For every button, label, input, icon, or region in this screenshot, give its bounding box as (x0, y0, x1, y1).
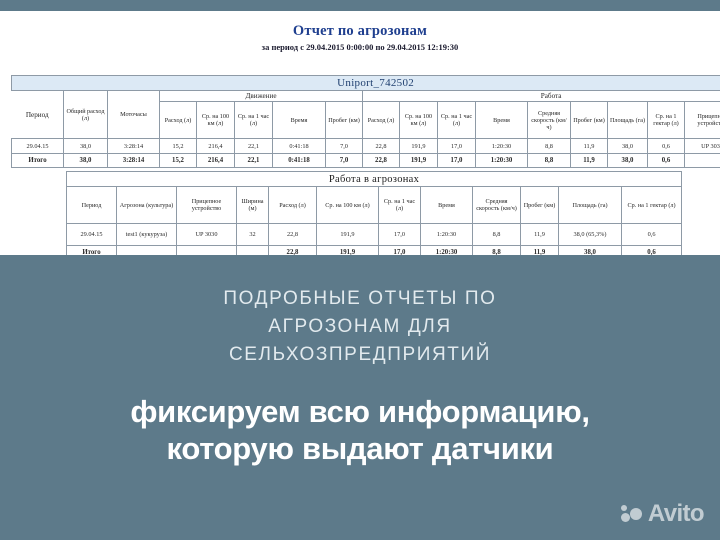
promo-kicker-line1: ПОДРОБНЫЕ ОТЧЕТЫ ПО (223, 288, 496, 309)
cell: 191,9 (400, 154, 438, 168)
promo-panel: ПОДРОБНЫЕ ОТЧЕТЫ ПО АГРОЗОНАМ ДЛЯ СЕЛЬХО… (0, 255, 720, 540)
cell: 216,4 (197, 154, 235, 168)
cell: 17,0 (379, 224, 421, 246)
promo-headline: фиксируем всю информацию, которую выдают… (40, 393, 680, 467)
table1-col-work-fuel: Расход (л) (363, 102, 400, 139)
cell: 32 (237, 224, 269, 246)
avito-logo-icon (621, 504, 643, 524)
cell: Итого (12, 154, 64, 168)
report-area: Отчет по агрозонам за период с 29.04.201… (0, 11, 720, 255)
table1-col-mov-distance: Пробег (км) (326, 102, 363, 139)
cell: 0,6 (648, 154, 685, 168)
table1-col-work-perhectare: Ср. на 1 гектар (л) (648, 102, 685, 139)
table1-col-implement: Прицепное устройство (685, 102, 720, 139)
table1-col-mov-fuel: Расход (л) (160, 102, 197, 139)
cell: 0,6 (622, 224, 682, 246)
table1-col-work-per100: Ср. на 100 км (л) (400, 102, 438, 139)
cell: 191,9 (400, 139, 438, 154)
promo-kicker-line3: СЕЛЬХОЗПРЕДПРИЯТИЙ (229, 344, 491, 365)
table2-col-time: Время (421, 187, 473, 224)
avito-watermark: Avito (621, 502, 704, 526)
table1-col-work-distance: Пробег (км) (571, 102, 608, 139)
cell: 38,0 (65,3%) (559, 224, 622, 246)
table1-group-row: Период Общий расход (л) Моточасы Движени… (12, 91, 720, 102)
cell (685, 154, 720, 168)
cell: 0:41:18 (273, 139, 326, 154)
promo-kicker-line2: АГРОЗОНАМ ДЛЯ (268, 316, 451, 337)
cell: 1:20:30 (421, 224, 473, 246)
table2-col-perhectare: Ср. на 1 гектар (л) (622, 187, 682, 224)
cell: 22,8 (269, 224, 317, 246)
promo-headline-line2: которую выдают датчики (40, 430, 680, 467)
cell: 17,0 (438, 154, 476, 168)
table1-band-row: Uniport_742502 (12, 76, 720, 91)
promo-kicker: ПОДРОБНЫЕ ОТЧЕТЫ ПО АГРОЗОНАМ ДЛЯ СЕЛЬХО… (60, 285, 660, 369)
table2-band-title: Работа в агрозонах (67, 172, 682, 187)
cell: 15,2 (160, 154, 197, 168)
table2-col-distance: Пробег (км) (521, 187, 559, 224)
cell: 7,0 (326, 139, 363, 154)
cell: 0,6 (648, 139, 685, 154)
cell: 15,2 (160, 139, 197, 154)
table-row: 29.04.15 38,0 3:28:14 15,2 216,4 22,1 0:… (12, 139, 720, 154)
cell: 11,9 (571, 154, 608, 168)
cell: 38,0 (608, 139, 648, 154)
table1-col-work-area: Площадь (га) (608, 102, 648, 139)
vehicle-summary-table: Uniport_742502 Период Общий расход (л) М… (11, 75, 720, 168)
promo-headline-line1: фиксируем всю информацию, (40, 393, 680, 430)
table2-col-width: Ширина (м) (237, 187, 269, 224)
table2-col-area: Площадь (га) (559, 187, 622, 224)
cell: 216,4 (197, 139, 235, 154)
cell: 1:20:30 (476, 154, 528, 168)
cell: test1 (кукуруза) (117, 224, 177, 246)
cell: 191,9 (317, 224, 379, 246)
cell: 22,1 (235, 139, 273, 154)
table1-col-mov-per100: Ср. на 100 км (л) (197, 102, 235, 139)
cell: 22,8 (363, 139, 400, 154)
table2-col-perhour: Ср. на 1 час (л) (379, 187, 421, 224)
agrozone-work-table: Работа в агрозонах Период Агрозона (куль… (66, 171, 682, 260)
report-title: Отчет по агрозонам (0, 23, 720, 40)
table2-col-agrozone: Агрозона (культура) (117, 187, 177, 224)
slide: Отчет по агрозонам за период с 29.04.201… (0, 0, 720, 540)
cell: 38,0 (64, 154, 108, 168)
cell: UP 3030 (177, 224, 237, 246)
cell: 7,0 (326, 154, 363, 168)
table1-col-work-perhour: Ср. на 1 час (л) (438, 102, 476, 139)
table2-band-row: Работа в агрозонах (67, 172, 682, 187)
avito-wordmark: Avito (648, 502, 704, 526)
cell: 0:41:18 (273, 154, 326, 168)
table1-col-work-avgspeed: Средняя скорость (км/ч) (528, 102, 571, 139)
cell: 38,0 (64, 139, 108, 154)
cell: 38,0 (608, 154, 648, 168)
table2-header-row: Период Агрозона (культура) Прицепное уст… (67, 187, 682, 224)
table1-col-mov-perhour: Ср. на 1 час (л) (235, 102, 273, 139)
table2-col-avgspeed: Средняя скорость (км/ч) (473, 187, 521, 224)
table2-col-per100: Ср. на 100 км (л) (317, 187, 379, 224)
cell: 29.04.15 (12, 139, 64, 154)
table1-col-work-time: Время (476, 102, 528, 139)
table1-total-row: Итого 38,0 3:28:14 15,2 216,4 22,1 0:41:… (12, 154, 720, 168)
cell: 3:28:14 (108, 139, 160, 154)
table2-col-fuel: Расход (л) (269, 187, 317, 224)
cell: UP 3030 (685, 139, 720, 154)
cell: 29.04.15 (67, 224, 117, 246)
table1-group-work: Работа (363, 91, 720, 102)
cell: 1:20:30 (476, 139, 528, 154)
cell: 8,8 (528, 154, 571, 168)
cell: 8,8 (528, 139, 571, 154)
table2-col-period: Период (67, 187, 117, 224)
cell: 11,9 (571, 139, 608, 154)
cell: 3:28:14 (108, 154, 160, 168)
table1-col-total-fuel: Общий расход (л) (64, 91, 108, 139)
table1-col-period: Период (12, 91, 64, 139)
table1-col-mov-time: Время (273, 102, 326, 139)
cell: 22,1 (235, 154, 273, 168)
cell: 8,8 (473, 224, 521, 246)
table1-band-title: Uniport_742502 (12, 76, 720, 91)
table1-col-engine-hours: Моточасы (108, 91, 160, 139)
cell: 17,0 (438, 139, 476, 154)
cell: 22,8 (363, 154, 400, 168)
table2-col-implement: Прицепное устройство (177, 187, 237, 224)
table-row: 29.04.15 test1 (кукуруза) UP 3030 32 22,… (67, 224, 682, 246)
top-accent-strip (0, 0, 720, 11)
cell: 11,9 (521, 224, 559, 246)
report-period-subtitle: за период с 29.04.2015 0:00:00 по 29.04.… (0, 42, 720, 53)
table1-group-movement: Движение (160, 91, 363, 102)
